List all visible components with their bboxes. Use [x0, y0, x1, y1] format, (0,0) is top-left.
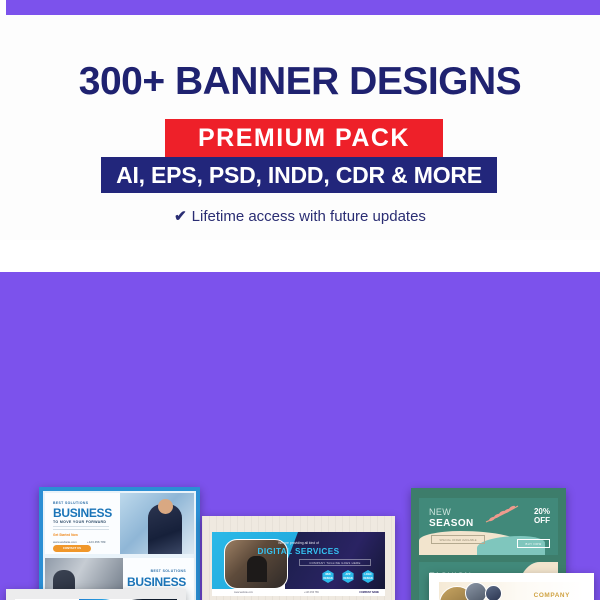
page-title: 300+ BANNER DESIGNS: [0, 62, 600, 101]
company-banner-mockup-card[interactable]: COMPANY TEXT HERE Lorem ipsum dolor sit …: [429, 573, 594, 600]
tagline: ✔Lifetime access with future updates: [0, 207, 600, 225]
tagline-text: Lifetime access with future updates: [192, 208, 426, 225]
wave-banner-mockup-card[interactable]: Banner Template Lorem Ipsum Dolor • Lore…: [6, 589, 186, 600]
ds1-big-title: DIGITAL SERVICES: [212, 547, 385, 556]
business-banner-1[interactable]: BEST SOLUTIONS BUSINESS TO MOVE YOUR FOR…: [45, 493, 194, 554]
biz1-subtitle: TO MOVE YOUR FORWARD: [53, 520, 106, 524]
biz2-title: BUSINESS: [127, 575, 186, 589]
ds1-small-text: We are providing all kind of: [212, 541, 385, 545]
promo-header: 300+ BANNER DESIGNS PREMIUM PACK AI, EPS…: [0, 15, 600, 240]
ds1-footer-site: www.website.com: [234, 589, 253, 596]
digital-services-mockup-card[interactable]: We are providing all kind of DIGITAL SER…: [202, 516, 395, 600]
premium-pack-label: PREMIUM PACK: [165, 119, 443, 157]
business-banner-mockup-card[interactable]: BEST SOLUTIONS BUSINESS TO MOVE YOUR FOR…: [39, 487, 200, 600]
file-formats-badge: AI, EPS, PSD, INDD, CDR & MORE: [101, 157, 497, 193]
ds1-footer-phone: +123 456 789: [304, 589, 319, 596]
premium-pack-badge: PREMIUM PACK: [165, 119, 443, 157]
ns1-line2: SEASON: [429, 518, 474, 529]
biz1-title: BUSINESS: [53, 506, 112, 520]
ns1-offer-chip[interactable]: SPECIAL OFFER AVAILABLE: [431, 535, 485, 544]
biz2-eyebrow: BEST SOLUTIONS: [151, 569, 186, 573]
ds1-hex-2[interactable]: APP DESIGN: [342, 570, 355, 583]
ns1-buy-button[interactable]: BUY NOW: [517, 539, 550, 548]
ds1-footer-brand: COMPANY NAME: [359, 589, 379, 596]
leaf-icon: [484, 503, 520, 525]
businessman-photo: [120, 493, 194, 554]
biz1-cta-button[interactable]: CONTACT US: [53, 545, 91, 552]
ds1-hex-3[interactable]: LOGO DESIGN: [362, 570, 375, 583]
ns1-discount: 20% OFF: [534, 507, 550, 525]
biz1-contact-phone: +123 456 789: [87, 540, 105, 544]
file-formats-label: AI, EPS, PSD, INDD, CDR & MORE: [101, 157, 497, 193]
ds1-hex-1[interactable]: WEB DESIGN: [322, 570, 335, 583]
ns1-line1: NEW: [429, 507, 451, 517]
co1-title: COMPANY: [534, 592, 570, 599]
biz1-lorem: Get Started Now: [53, 533, 78, 537]
top-accent-bar: [6, 0, 600, 15]
ds1-tagline: COMPANY TAGLINE GOES HERE: [299, 559, 371, 566]
check-icon: ✔: [174, 208, 187, 225]
company-banner-gold[interactable]: COMPANY TEXT HERE Lorem ipsum dolor sit …: [439, 582, 584, 600]
co1-photo-cluster: [439, 582, 517, 600]
banner-showcase: BEST SOLUTIONS BUSINESS TO MOVE YOUR FOR…: [0, 240, 600, 600]
biz1-contact-site: www.website.com: [53, 540, 77, 544]
digital-services-banner-blue[interactable]: We are providing all kind of DIGITAL SER…: [212, 532, 385, 596]
ds1-footer: www.website.com +123 456 789 COMPANY NAM…: [212, 589, 385, 596]
biz1-eyebrow: BEST SOLUTIONS: [53, 501, 88, 505]
new-season-banner[interactable]: NEW SEASON 20% OFF SPECIAL OFFER AVAILAB…: [419, 498, 558, 555]
